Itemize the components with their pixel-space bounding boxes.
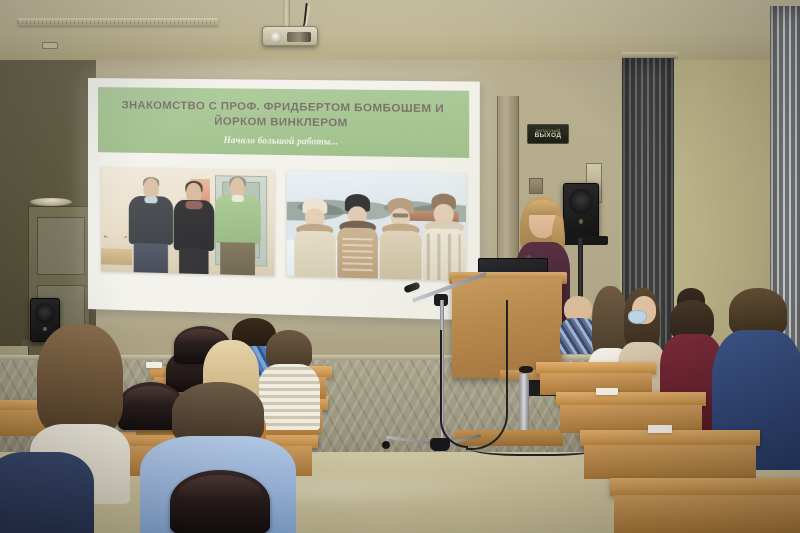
desk-paper-3 [648, 425, 672, 433]
photo2-woman-3-coat [380, 230, 421, 279]
photo1-person-right-body [215, 195, 260, 244]
photo1-person-left-collar [144, 196, 157, 204]
photo1-person-center [173, 183, 215, 274]
desk-right-middle [556, 392, 706, 406]
desk-right-middle-side [560, 405, 702, 433]
ceiling-vent [18, 18, 218, 26]
exit-sign-line-2: ВЫХОД [535, 133, 562, 140]
pa-speaker-stand [578, 238, 583, 298]
photo1-person-left-legs [133, 244, 168, 273]
lecture-hall-scene: ЗАПАСНЫЙ ВЫХОД ЗНАКОМСТВО С ПРОФ. ФРИДБЕ… [0, 0, 800, 533]
slide-title: ЗНАКОМСТВО С ПРОФ. ФРИДБЕРТОМ БОМБОШЕМ И… [112, 98, 454, 132]
desk-right-front-side [584, 445, 756, 479]
photo1-person-right-legs [220, 242, 255, 275]
desk-right-nearest-side [614, 495, 800, 533]
desk-paper-2 [596, 388, 618, 395]
photo1-plant [104, 183, 126, 238]
ceiling-sensor [42, 42, 58, 49]
photo2-woman-3 [379, 197, 422, 279]
slide-subtitle: Начало большой работы... [112, 133, 454, 148]
ceiling [0, 0, 800, 60]
photo1-table [101, 248, 132, 265]
podium-support-post [519, 374, 529, 432]
podium-mouse[interactable] [519, 366, 533, 373]
photo1-person-right [215, 177, 260, 275]
photo1-person-center-scarf [186, 201, 203, 209]
face-mask-icon [628, 310, 647, 324]
photo2-woman-2-coat-trim [343, 237, 373, 271]
slide-photo-row [98, 167, 469, 281]
a7-navy-jacket [0, 452, 94, 533]
desk-paper-1 [146, 362, 162, 368]
projector-ports [287, 32, 311, 42]
audio-cable-left [440, 330, 468, 448]
a12-hair [729, 288, 787, 336]
audience-member-a7 [0, 452, 94, 533]
microphone-stand-foot [430, 438, 450, 451]
ceiling-projector [262, 26, 318, 46]
projection-screen: ЗНАКОМСТВО С ПРОФ. ФРИДБЕРТОМ БОМБОШЕМ И… [88, 78, 480, 321]
presenter-hair-front [527, 200, 558, 215]
a2-hair [172, 382, 264, 444]
wall-lamp [30, 198, 72, 206]
photo1-person-center-legs [179, 249, 208, 274]
photo2-woman-2 [336, 194, 379, 278]
photo2-woman-4 [422, 194, 465, 281]
wall-switch-box[interactable] [529, 178, 543, 194]
photo2-woman-1 [294, 198, 337, 277]
photo2-woman-1-coat [295, 230, 336, 276]
microphone-stand-foot-tip [382, 441, 390, 449]
a1-brown-hair [37, 324, 123, 434]
emergency-exit-sign: ЗАПАСНЫЙ ВЫХОД [527, 124, 569, 144]
slide-photo-three-people [101, 167, 274, 276]
chair-front-left[interactable] [170, 470, 270, 533]
photo2-woman-3-glasses-icon [393, 213, 409, 218]
photo1-person-right-collar [232, 195, 244, 202]
slide-photo-four-women [287, 170, 466, 280]
slide-header-band: ЗНАКОМСТВО С ПРОФ. ФРИДБЕРТОМ БОМБОШЕМ И… [98, 87, 469, 157]
photo1-person-left [128, 178, 173, 273]
desk-right-nearest [610, 478, 800, 496]
audio-cable-right [466, 300, 508, 450]
projector-lens-icon [271, 32, 282, 43]
